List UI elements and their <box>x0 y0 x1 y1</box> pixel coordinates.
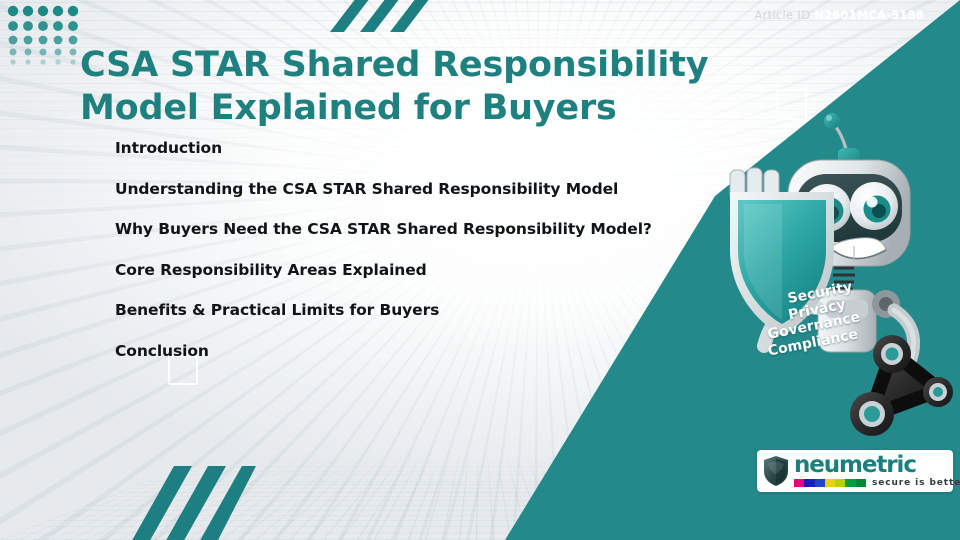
logo-wordmark: neumetric <box>794 454 960 476</box>
diagonal-stripes-top <box>330 0 438 32</box>
page-title: CSA STAR Shared Responsibility Model Exp… <box>80 44 780 130</box>
toc-item-conclusion[interactable]: Conclusion <box>115 344 735 360</box>
article-id-value: N2601MCA-5188 <box>814 8 924 22</box>
diagonal-stripes-bottom <box>130 466 256 540</box>
logo-shield-icon <box>763 455 789 487</box>
toc-item-understanding[interactable]: Understanding the CSA STAR Shared Respon… <box>115 182 735 198</box>
article-id: Article ID N2601MCA-5188 <box>754 8 924 22</box>
toc-item-benefits[interactable]: Benefits & Practical Limits for Buyers <box>115 303 735 319</box>
dot-grid-decoration <box>6 4 78 66</box>
toc-item-introduction[interactable]: Introduction <box>115 141 735 157</box>
article-id-label: Article ID <box>754 8 810 22</box>
table-of-contents: Introduction Understanding the CSA STAR … <box>115 141 735 384</box>
toc-item-core-areas[interactable]: Core Responsibility Areas Explained <box>115 263 735 279</box>
logo-tagline: secure is better <box>872 478 960 488</box>
neumetric-logo[interactable]: neumetric secure is better <box>757 450 953 492</box>
robot-mascot-illustration <box>726 108 960 438</box>
logo-color-bars <box>794 479 866 487</box>
slide-canvas: Article ID N2601MCA-5188 CSA STAR Shared… <box>0 0 960 540</box>
toc-item-why-buyers[interactable]: Why Buyers Need the CSA STAR Shared Resp… <box>115 222 735 238</box>
